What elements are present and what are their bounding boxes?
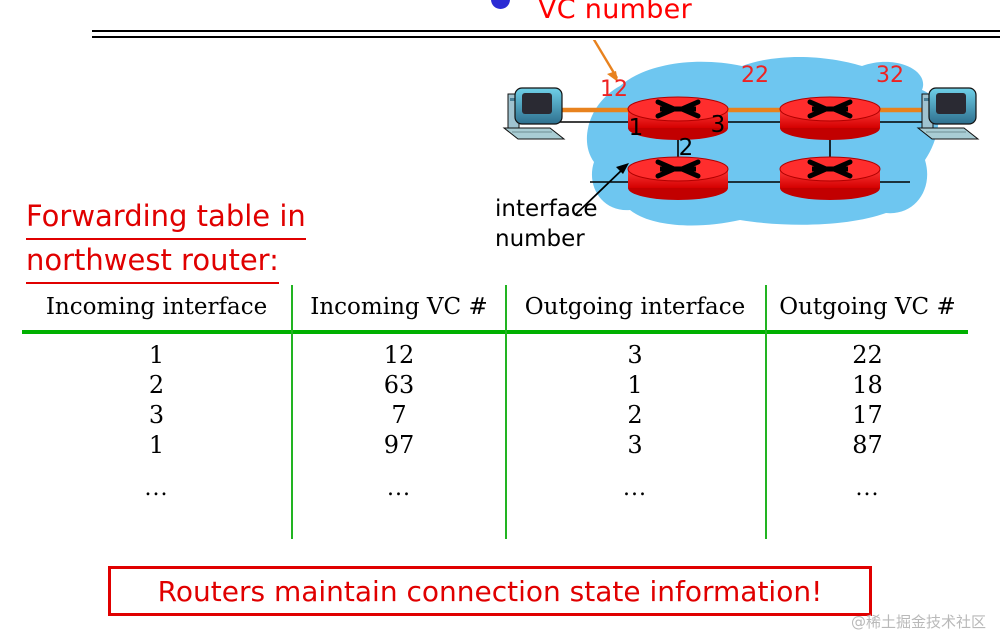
table-cell: 18 bbox=[767, 370, 968, 400]
host-left-icon bbox=[504, 88, 564, 139]
table-header-incoming-interface: Incoming interface bbox=[22, 285, 291, 329]
vc-segment-label-22: 22 bbox=[741, 63, 769, 88]
table-cell: 17 bbox=[767, 400, 968, 430]
summary-banner: Routers maintain connection state inform… bbox=[108, 566, 872, 616]
watermark: @稀土掘金技术社区 bbox=[851, 611, 986, 632]
vc-number-pointer-arrow bbox=[587, 40, 618, 82]
table-cell: 7 bbox=[293, 400, 505, 430]
interface-number-caption-line2: number bbox=[495, 224, 598, 254]
table-cell: 22 bbox=[767, 340, 968, 370]
table-column-incoming-vc: 12 63 7 97 ... bbox=[293, 340, 505, 504]
table-cell: 97 bbox=[293, 430, 505, 460]
header-rule-upper bbox=[92, 30, 1000, 32]
table-header-outgoing-vc: Outgoing VC # bbox=[767, 285, 968, 329]
table-header-incoming-vc: Incoming VC # bbox=[293, 285, 505, 329]
forwarding-table: Incoming interface Incoming VC # Outgoin… bbox=[0, 285, 1000, 545]
table-cell-ellipsis: ... bbox=[767, 474, 968, 504]
table-cell: 3 bbox=[507, 340, 763, 370]
table-cell-ellipsis: ... bbox=[22, 474, 291, 504]
interface-number-caption: interface number bbox=[495, 194, 598, 254]
summary-banner-text: Routers maintain connection state inform… bbox=[111, 569, 869, 613]
table-cell: 3 bbox=[22, 400, 291, 430]
table-column-incoming-interface: 1 2 3 1 ... bbox=[22, 340, 291, 504]
table-cell-ellipsis: ... bbox=[507, 474, 763, 504]
table-cell: 2 bbox=[507, 400, 763, 430]
host-right-icon bbox=[918, 88, 978, 139]
bullet-point-icon bbox=[491, 0, 510, 9]
vc-segment-label-12: 12 bbox=[600, 77, 628, 102]
interface-label-2: 2 bbox=[679, 135, 694, 161]
router-northeast-icon bbox=[780, 97, 880, 140]
table-cell: 1 bbox=[22, 430, 291, 460]
table-cell: 87 bbox=[767, 430, 968, 460]
table-header-row: Incoming interface Incoming VC # Outgoin… bbox=[0, 285, 1000, 330]
interface-number-caption-line1: interface bbox=[495, 194, 598, 224]
interface-label-1: 1 bbox=[629, 115, 644, 141]
table-cell-ellipsis: ... bbox=[293, 474, 505, 504]
forwarding-table-title: Forwarding table in northwest router: bbox=[26, 196, 446, 284]
table-header-underline bbox=[22, 330, 968, 334]
table-cell: 2 bbox=[22, 370, 291, 400]
table-cell: 63 bbox=[293, 370, 505, 400]
router-southeast-icon bbox=[780, 157, 880, 200]
vc-segment-label-32: 32 bbox=[876, 63, 904, 88]
router-southwest-icon bbox=[628, 157, 728, 200]
table-column-outgoing-interface: 3 1 2 3 ... bbox=[507, 340, 763, 504]
forwarding-table-title-line1: Forwarding table in bbox=[26, 196, 306, 240]
header-rule-lower bbox=[92, 36, 1000, 38]
table-header-outgoing-interface: Outgoing interface bbox=[507, 285, 763, 329]
interface-label-3: 3 bbox=[711, 112, 726, 138]
table-cell: 3 bbox=[507, 430, 763, 460]
vc-number-label: VC number bbox=[538, 0, 692, 25]
forwarding-table-title-line2: northwest router: bbox=[26, 240, 279, 284]
table-column-outgoing-vc: 22 18 17 87 ... bbox=[767, 340, 968, 504]
table-cell: 1 bbox=[22, 340, 291, 370]
table-cell: 12 bbox=[293, 340, 505, 370]
table-cell: 1 bbox=[507, 370, 763, 400]
